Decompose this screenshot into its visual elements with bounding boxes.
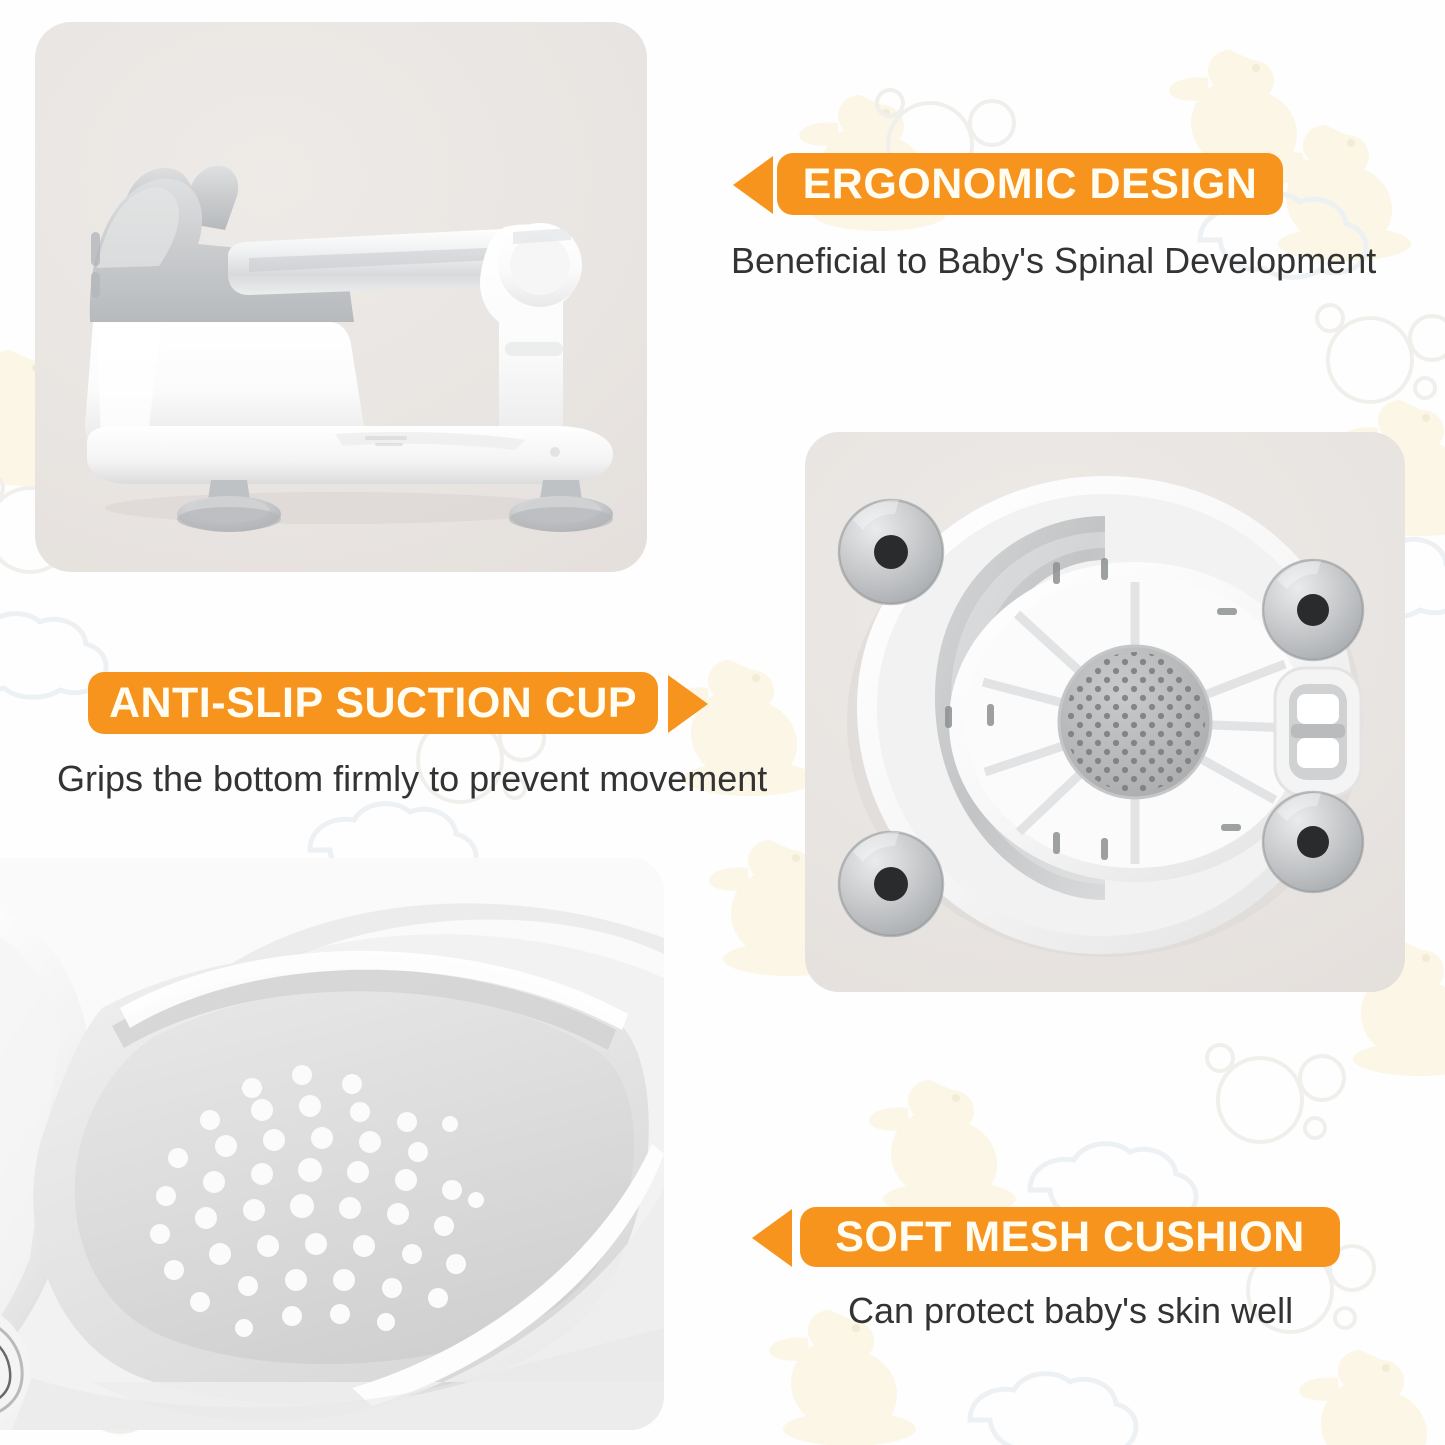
photo-panel-side-view (35, 22, 647, 572)
photo-panel-mesh-closeup (0, 858, 664, 1430)
arrow-left-icon-ergonomic (733, 156, 773, 214)
bath-seat-side-view-illustration (35, 22, 647, 572)
badge-anti-slip-suction-cup: ANTI-SLIP SUCTION CUP (88, 672, 658, 734)
infographic-canvas: ERGONOMIC DESIGN Beneficial to Baby's Sp… (0, 0, 1445, 1445)
badge-soft-mesh-cushion: SOFT MESH CUSHION (800, 1207, 1340, 1267)
photo-panel-bottom-view (805, 432, 1405, 992)
arrow-left-icon-soft-mesh (752, 1209, 792, 1267)
suction-cup-bottom-right (1263, 792, 1363, 892)
mesh-cushion-closeup-illustration (0, 858, 664, 1430)
subtitle-ergonomic-design: Beneficial to Baby's Spinal Development (731, 240, 1376, 282)
suction-cup-front (177, 480, 281, 532)
suction-cup-top-right (1263, 560, 1363, 660)
bath-seat-bottom-view-illustration (805, 432, 1405, 992)
arrow-right-icon-anti-slip (668, 675, 708, 733)
suction-cup-top-left (839, 500, 943, 604)
suction-cup-bottom-left (839, 832, 943, 936)
subtitle-anti-slip-suction-cup: Grips the bottom firmly to prevent movem… (57, 758, 767, 800)
suction-cup-rear (509, 480, 613, 532)
badge-ergonomic-design: ERGONOMIC DESIGN (777, 153, 1283, 215)
subtitle-soft-mesh-cushion: Can protect baby's skin well (848, 1290, 1293, 1332)
